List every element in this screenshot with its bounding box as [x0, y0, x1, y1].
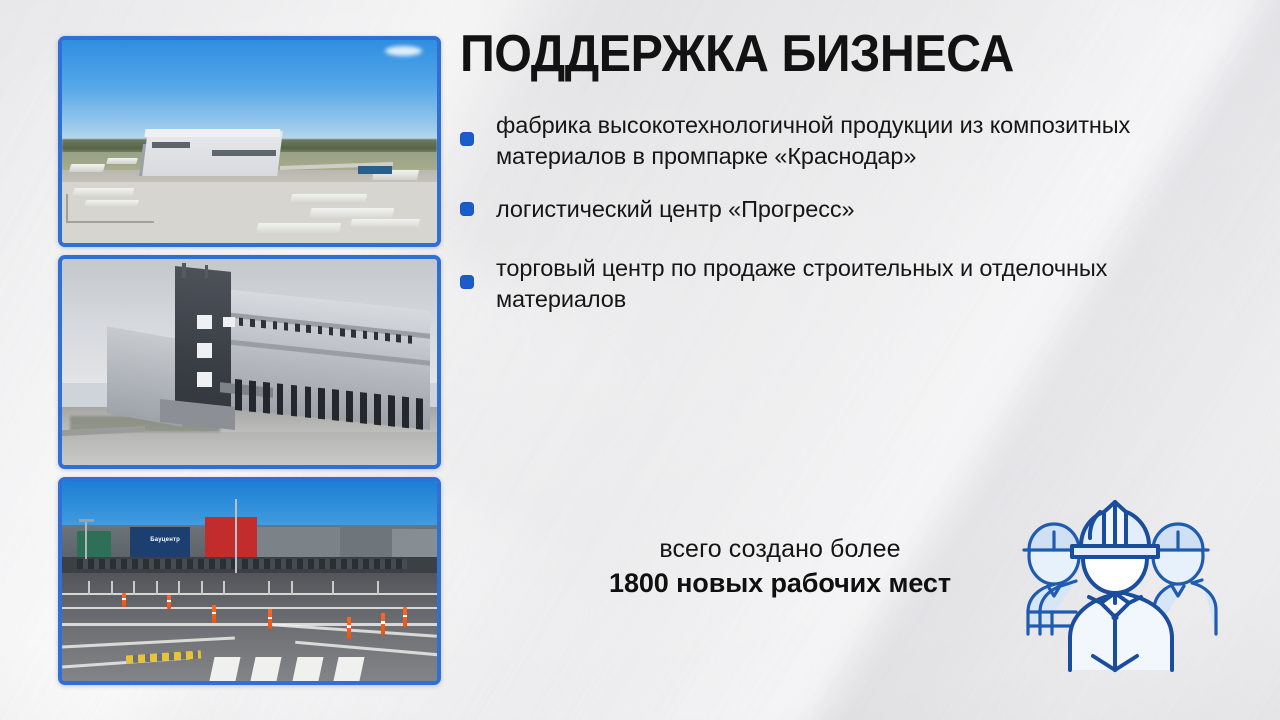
summary-block: всего создано более 1800 новых рабочих м…: [560, 534, 1000, 600]
crosswalk-stripe: [209, 657, 240, 681]
parking-post: [201, 581, 203, 595]
three-workers-hardhat-icon: [1008, 474, 1222, 688]
crosswalk-stripe: [251, 657, 282, 681]
parking-line: [62, 593, 437, 595]
photo-2-content: [62, 259, 437, 465]
bullet-text: торговый центр по продаже строительных и…: [496, 253, 1205, 315]
bollard: [347, 617, 351, 639]
centre-worker: [1070, 502, 1172, 670]
photo-retail-centre: Бауцентр: [58, 477, 441, 685]
photo-1-content: [62, 40, 437, 243]
window: [197, 315, 212, 329]
crosswalk-stripe: [292, 657, 323, 681]
apron: [62, 432, 437, 465]
lamp-post: [85, 521, 87, 559]
roof-mast: [205, 265, 208, 277]
flag-pole: [235, 499, 238, 573]
list-item: фабрика высокотехнологичной продукции из…: [460, 110, 1205, 172]
facade-block-green: [77, 531, 111, 559]
material-stack: [350, 219, 419, 229]
bullet-square-icon: [460, 202, 474, 216]
photo-3-content: Бауцентр: [62, 481, 437, 681]
crosswalk-stripe: [333, 657, 364, 681]
list-item: торговый центр по продаже строительных и…: [460, 253, 1205, 315]
bautsentr-sign: Бауцентр: [141, 533, 190, 547]
building-roof: [144, 129, 280, 137]
bullet-list: фабрика высокотехнологичной продукции из…: [460, 110, 1205, 337]
slide-root: Бауцентр: [0, 0, 1280, 720]
parking-post: [223, 581, 225, 595]
facade-block-grey: [257, 527, 340, 559]
storefront-glazing: [77, 559, 407, 569]
bollard: [381, 613, 385, 635]
building-window-strip: [212, 150, 276, 156]
parking-post: [332, 581, 334, 595]
parking-post: [291, 581, 293, 595]
parking-post: [156, 581, 158, 595]
building-window-strip-2: [152, 142, 190, 148]
bullet-text: логистический центр «Прогресс»: [496, 194, 1205, 225]
roof-mast: [182, 263, 186, 277]
lamp-head: [79, 519, 94, 522]
bullet-square-icon: [460, 132, 474, 146]
parking-post: [111, 581, 113, 595]
window: [223, 317, 234, 327]
summary-line-1: всего создано более: [560, 534, 1000, 564]
parking-post: [377, 581, 379, 595]
parking-post: [178, 581, 180, 595]
bullet-text: фабрика высокотехнологичной продукции из…: [496, 110, 1205, 172]
bollard: [212, 605, 216, 623]
sky: [62, 40, 437, 144]
list-item: логистический центр «Прогресс»: [460, 194, 1205, 225]
parking-post: [133, 581, 135, 595]
shipping-container: [358, 166, 392, 174]
photo-industrial-aerial: [58, 36, 441, 247]
parking-post: [268, 581, 270, 595]
bautsentr-sign-text: Бауцентр: [150, 537, 180, 543]
window: [197, 372, 212, 386]
bollard: [122, 593, 126, 607]
material-stack: [290, 194, 367, 204]
photo-logistics-warehouse: [58, 255, 441, 469]
material-stack: [106, 158, 138, 164]
bollard: [403, 607, 407, 627]
parking-line: [62, 607, 437, 609]
parking-post: [88, 581, 90, 595]
facade-block-red: [205, 517, 258, 557]
window: [197, 343, 212, 357]
facade-block-grey: [392, 529, 437, 557]
bollard: [268, 609, 272, 629]
bollard: [167, 595, 171, 609]
fence: [66, 194, 154, 222]
material-stack: [256, 223, 341, 235]
bullet-square-icon: [460, 275, 474, 289]
material-stack: [68, 164, 104, 172]
summary-line-2: 1800 новых рабочих мест: [560, 566, 1000, 600]
page-title: ПОДДЕРЖКА БИЗНЕСА: [460, 28, 1014, 80]
